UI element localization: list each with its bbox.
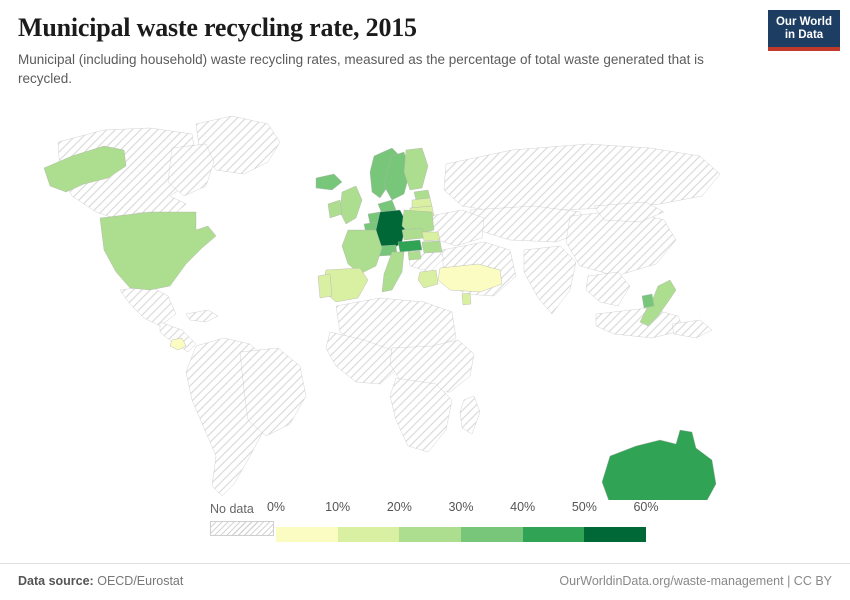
legend-no-data-swatch[interactable] bbox=[210, 521, 274, 536]
legend-bin-5[interactable] bbox=[584, 527, 646, 542]
country-united-kingdom[interactable] bbox=[340, 186, 362, 224]
chart-footer: Data source: OECD/Eurostat OurWorldinDat… bbox=[0, 563, 850, 600]
country-israel[interactable] bbox=[462, 293, 471, 305]
region-russia[interactable] bbox=[444, 144, 720, 212]
world-map[interactable] bbox=[0, 100, 850, 500]
world-map-svg[interactable] bbox=[0, 100, 850, 500]
legend-tick-3: 30% bbox=[448, 500, 473, 514]
country-czechia[interactable] bbox=[402, 228, 424, 240]
legend-bin-1[interactable] bbox=[338, 527, 400, 542]
country-slovenia[interactable] bbox=[408, 251, 421, 260]
attribution-link[interactable]: OurWorldinData.org/waste-management | CC… bbox=[559, 574, 832, 588]
map-legend: No data 0% 10% 20% 30% 40% 50% 60% bbox=[0, 500, 850, 558]
country-greece[interactable] bbox=[418, 270, 438, 288]
legend-bin-4[interactable] bbox=[523, 527, 585, 542]
legend-bin-3[interactable] bbox=[461, 527, 523, 542]
region-madagascar[interactable] bbox=[460, 396, 480, 434]
chart-header: Municipal waste recycling rate, 2015 Mun… bbox=[18, 12, 832, 88]
legend-color-bar[interactable] bbox=[276, 527, 646, 542]
country-australia[interactable] bbox=[602, 430, 716, 500]
region-canada-east[interactable] bbox=[168, 144, 214, 196]
country-hungary[interactable] bbox=[422, 241, 442, 253]
country-portugal[interactable] bbox=[318, 274, 332, 298]
legend-bin-2[interactable] bbox=[399, 527, 461, 542]
legend-tick-5: 50% bbox=[572, 500, 597, 514]
legend-tick-6: 60% bbox=[633, 500, 658, 514]
owid-logo[interactable]: Our World in Data bbox=[768, 10, 840, 51]
region-eastern-europe[interactable] bbox=[430, 210, 484, 246]
legend-bin-0[interactable] bbox=[276, 527, 338, 542]
region-indonesia[interactable] bbox=[596, 308, 684, 338]
country-iceland[interactable] bbox=[316, 174, 342, 190]
page-title: Municipal waste recycling rate, 2015 bbox=[18, 12, 832, 44]
region-southeast-asia[interactable] bbox=[586, 272, 630, 306]
country-france[interactable] bbox=[342, 230, 382, 274]
legend-color-scale[interactable]: 0% 10% 20% 30% 40% 50% 60% bbox=[276, 500, 646, 542]
country-ireland[interactable] bbox=[328, 200, 342, 218]
owid-choropleth-chart: Municipal waste recycling rate, 2015 Mun… bbox=[0, 0, 850, 600]
data-source-value: OECD/Eurostat bbox=[97, 574, 183, 588]
data-source-label: Data source: bbox=[18, 574, 94, 588]
logo-line-2: in Data bbox=[774, 29, 834, 47]
country-austria[interactable] bbox=[398, 240, 422, 252]
legend-tick-1: 10% bbox=[325, 500, 350, 514]
country-italy[interactable] bbox=[382, 252, 404, 292]
legend-tick-4: 40% bbox=[510, 500, 535, 514]
legend-tick-0: 0% bbox=[267, 500, 285, 514]
country-finland[interactable] bbox=[404, 148, 428, 190]
country-united-states[interactable] bbox=[100, 212, 216, 290]
chart-subtitle: Municipal (including household) waste re… bbox=[18, 50, 760, 88]
legend-tick-labels: 0% 10% 20% 30% 40% 50% 60% bbox=[276, 500, 646, 520]
data-source: Data source: OECD/Eurostat bbox=[18, 574, 183, 588]
country-slovakia[interactable] bbox=[422, 232, 440, 241]
country-south-korea[interactable] bbox=[642, 294, 654, 308]
logo-line-1: Our World bbox=[774, 16, 834, 29]
legend-tick-2: 20% bbox=[387, 500, 412, 514]
region-caribbean[interactable] bbox=[186, 310, 218, 322]
region-mexico[interactable] bbox=[120, 286, 176, 326]
region-india[interactable] bbox=[524, 246, 576, 314]
